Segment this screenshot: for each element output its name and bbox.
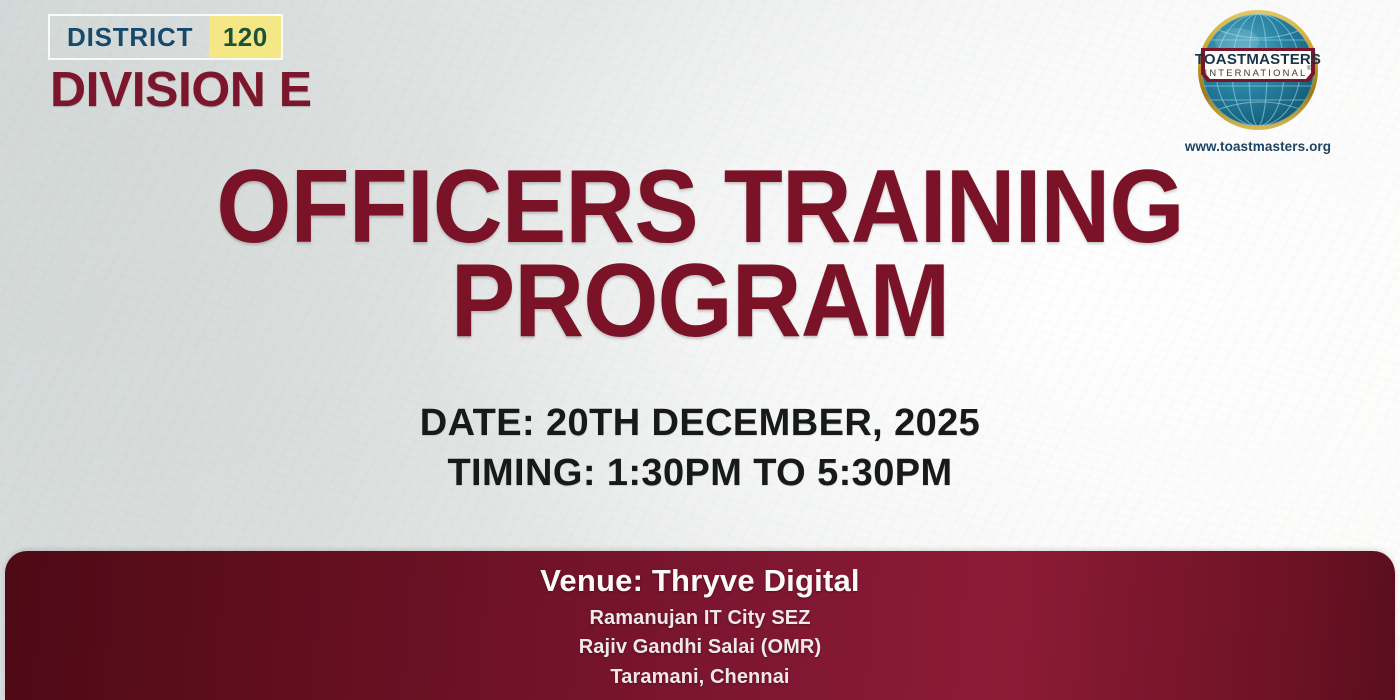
venue-address-line-2: Rajiv Gandhi Salai (OMR) [5, 633, 1395, 662]
venue-banner: Venue: Thryve Digital Ramanujan IT City … [5, 551, 1395, 700]
venue-heading: Venue: Thryve Digital [5, 563, 1395, 599]
toastmasters-globe-icon: TOASTMASTERS INTERNATIONAL ® [1183, 8, 1333, 133]
district-badge: DISTRICT 120 [48, 14, 283, 60]
toastmasters-logo: TOASTMASTERS INTERNATIONAL ® www.toastma… [1178, 8, 1338, 158]
venue-content: Venue: Thryve Digital Ramanujan IT City … [5, 551, 1395, 692]
event-date: DATE: 20TH DECEMBER, 2025 [0, 398, 1400, 448]
schedule-block: DATE: 20TH DECEMBER, 2025 TIMING: 1:30PM… [0, 398, 1400, 498]
venue-address-line-1: Ramanujan IT City SEZ [5, 604, 1395, 633]
district-label: DISTRICT [50, 16, 209, 58]
division-label: DIVISION E [50, 62, 312, 118]
toastmasters-url: www.toastmasters.org [1178, 139, 1338, 154]
event-poster: DISTRICT 120 DIVISION E [0, 0, 1400, 700]
title-line-2: PROGRAM [49, 252, 1351, 352]
svg-text:INTERNATIONAL: INTERNATIONAL [1205, 67, 1308, 78]
svg-text:®: ® [1307, 65, 1312, 72]
district-number: 120 [209, 16, 281, 58]
venue-address: Ramanujan IT City SEZ Rajiv Gandhi Salai… [5, 604, 1395, 692]
svg-text:TOASTMASTERS: TOASTMASTERS [1195, 51, 1321, 68]
page-title: OFFICERS TRAINING PROGRAM [0, 158, 1400, 352]
event-timing: TIMING: 1:30PM TO 5:30PM [0, 448, 1400, 498]
venue-address-line-3: Taramani, Chennai [5, 663, 1395, 692]
